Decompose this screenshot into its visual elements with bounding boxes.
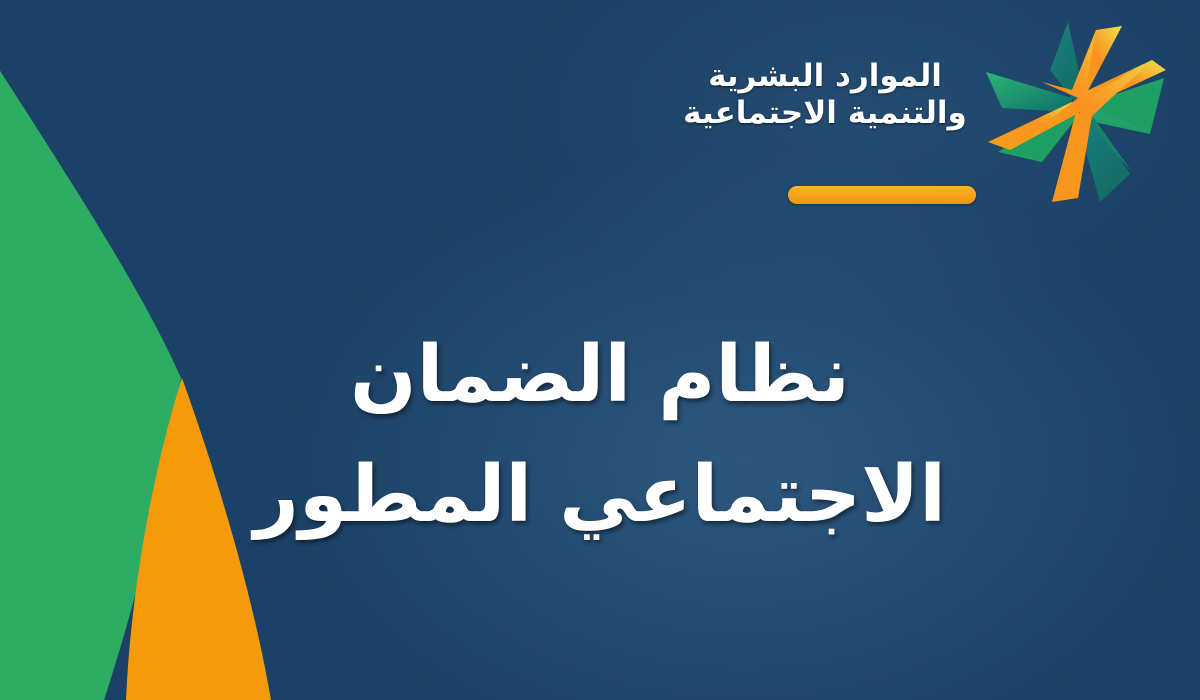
poster-headline: نظام الضمان الاجتماعي المطور — [0, 336, 1200, 534]
ministry-name-line-2: والتنمية الاجتماعية — [675, 95, 975, 132]
ministry-wordmark: الموارد البشرية والتنمية الاجتماعية — [675, 58, 975, 131]
headline-line-1: نظام الضمان — [0, 336, 1200, 414]
poster-canvas: الموارد البشرية والتنمية الاجتماعية — [0, 0, 1200, 700]
headline-line-2: الاجتماعي المطور — [0, 456, 1200, 534]
logo-accent-bar — [788, 186, 976, 204]
ministry-logo: الموارد البشرية والتنمية الاجتماعية — [640, 10, 1170, 210]
star-emblem-icon — [980, 12, 1170, 208]
ministry-name-line-1: الموارد البشرية — [675, 58, 975, 95]
